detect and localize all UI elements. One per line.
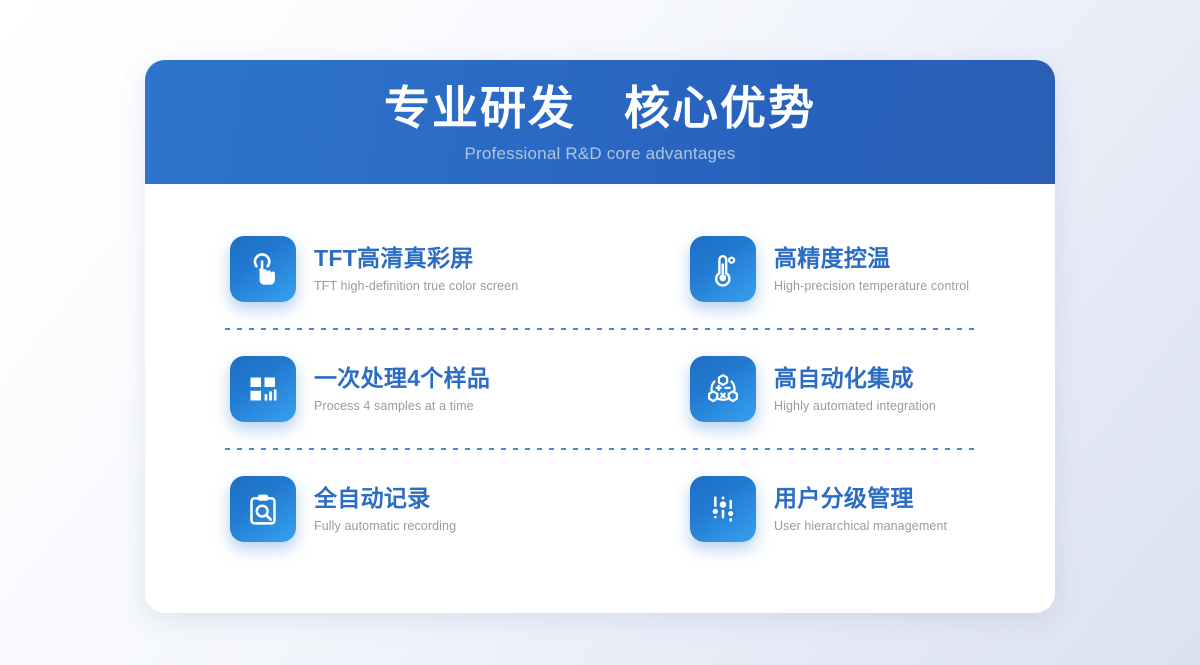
feature-text: TFT高清真彩屏 TFT high-definition true color …	[314, 243, 518, 296]
feature-item-user-management[interactable]: 用户分级管理 User hierarchical management	[600, 476, 1055, 542]
automation-network-icon	[690, 356, 756, 422]
feature-subtitle: High-precision temperature control	[774, 276, 969, 296]
advantages-card: 专业研发 核心优势 Professional R&D core advantag…	[145, 60, 1055, 613]
page-subtitle: Professional R&D core advantages	[145, 141, 1055, 167]
feature-subtitle: Highly automated integration	[774, 396, 936, 416]
feature-item-four-samples[interactable]: 一次处理4个样品 Process 4 samples at a time	[145, 356, 600, 422]
feature-text: 全自动记录 Fully automatic recording	[314, 483, 456, 536]
sliders-icon	[690, 476, 756, 542]
feature-row: TFT高清真彩屏 TFT high-definition true color …	[145, 210, 1055, 328]
feature-subtitle: User hierarchical management	[774, 516, 947, 536]
touch-pointer-icon	[230, 236, 296, 302]
page-root: 专业研发 核心优势 Professional R&D core advantag…	[0, 0, 1200, 665]
feature-subtitle: Process 4 samples at a time	[314, 396, 490, 416]
features-grid: TFT高清真彩屏 TFT high-definition true color …	[145, 184, 1055, 568]
feature-title: 全自动记录	[314, 483, 456, 513]
page-title: 专业研发 核心优势	[145, 79, 1055, 139]
feature-row: 一次处理4个样品 Process 4 samples at a time	[145, 330, 1055, 448]
feature-row: 全自动记录 Fully automatic recording	[145, 450, 1055, 568]
feature-text: 高自动化集成 Highly automated integration	[774, 363, 936, 416]
feature-text: 用户分级管理 User hierarchical management	[774, 483, 947, 536]
feature-title: 高精度控温	[774, 243, 969, 273]
feature-subtitle: Fully automatic recording	[314, 516, 456, 536]
feature-item-automation[interactable]: 高自动化集成 Highly automated integration	[600, 356, 1055, 422]
feature-item-tft-screen[interactable]: TFT高清真彩屏 TFT high-definition true color …	[145, 236, 600, 302]
feature-item-temperature-control[interactable]: 高精度控温 High-precision temperature control	[600, 236, 1055, 302]
feature-title: TFT高清真彩屏	[314, 243, 518, 273]
thermometer-icon	[690, 236, 756, 302]
feature-title: 高自动化集成	[774, 363, 936, 393]
clipboard-search-icon	[230, 476, 296, 542]
feature-subtitle: TFT high-definition true color screen	[314, 276, 518, 296]
card-header: 专业研发 核心优势 Professional R&D core advantag…	[145, 60, 1055, 184]
dashboard-grid-icon	[230, 356, 296, 422]
feature-text: 一次处理4个样品 Process 4 samples at a time	[314, 363, 490, 416]
feature-text: 高精度控温 High-precision temperature control	[774, 243, 969, 296]
feature-title: 用户分级管理	[774, 483, 947, 513]
feature-title: 一次处理4个样品	[314, 363, 490, 393]
feature-item-auto-recording[interactable]: 全自动记录 Fully automatic recording	[145, 476, 600, 542]
